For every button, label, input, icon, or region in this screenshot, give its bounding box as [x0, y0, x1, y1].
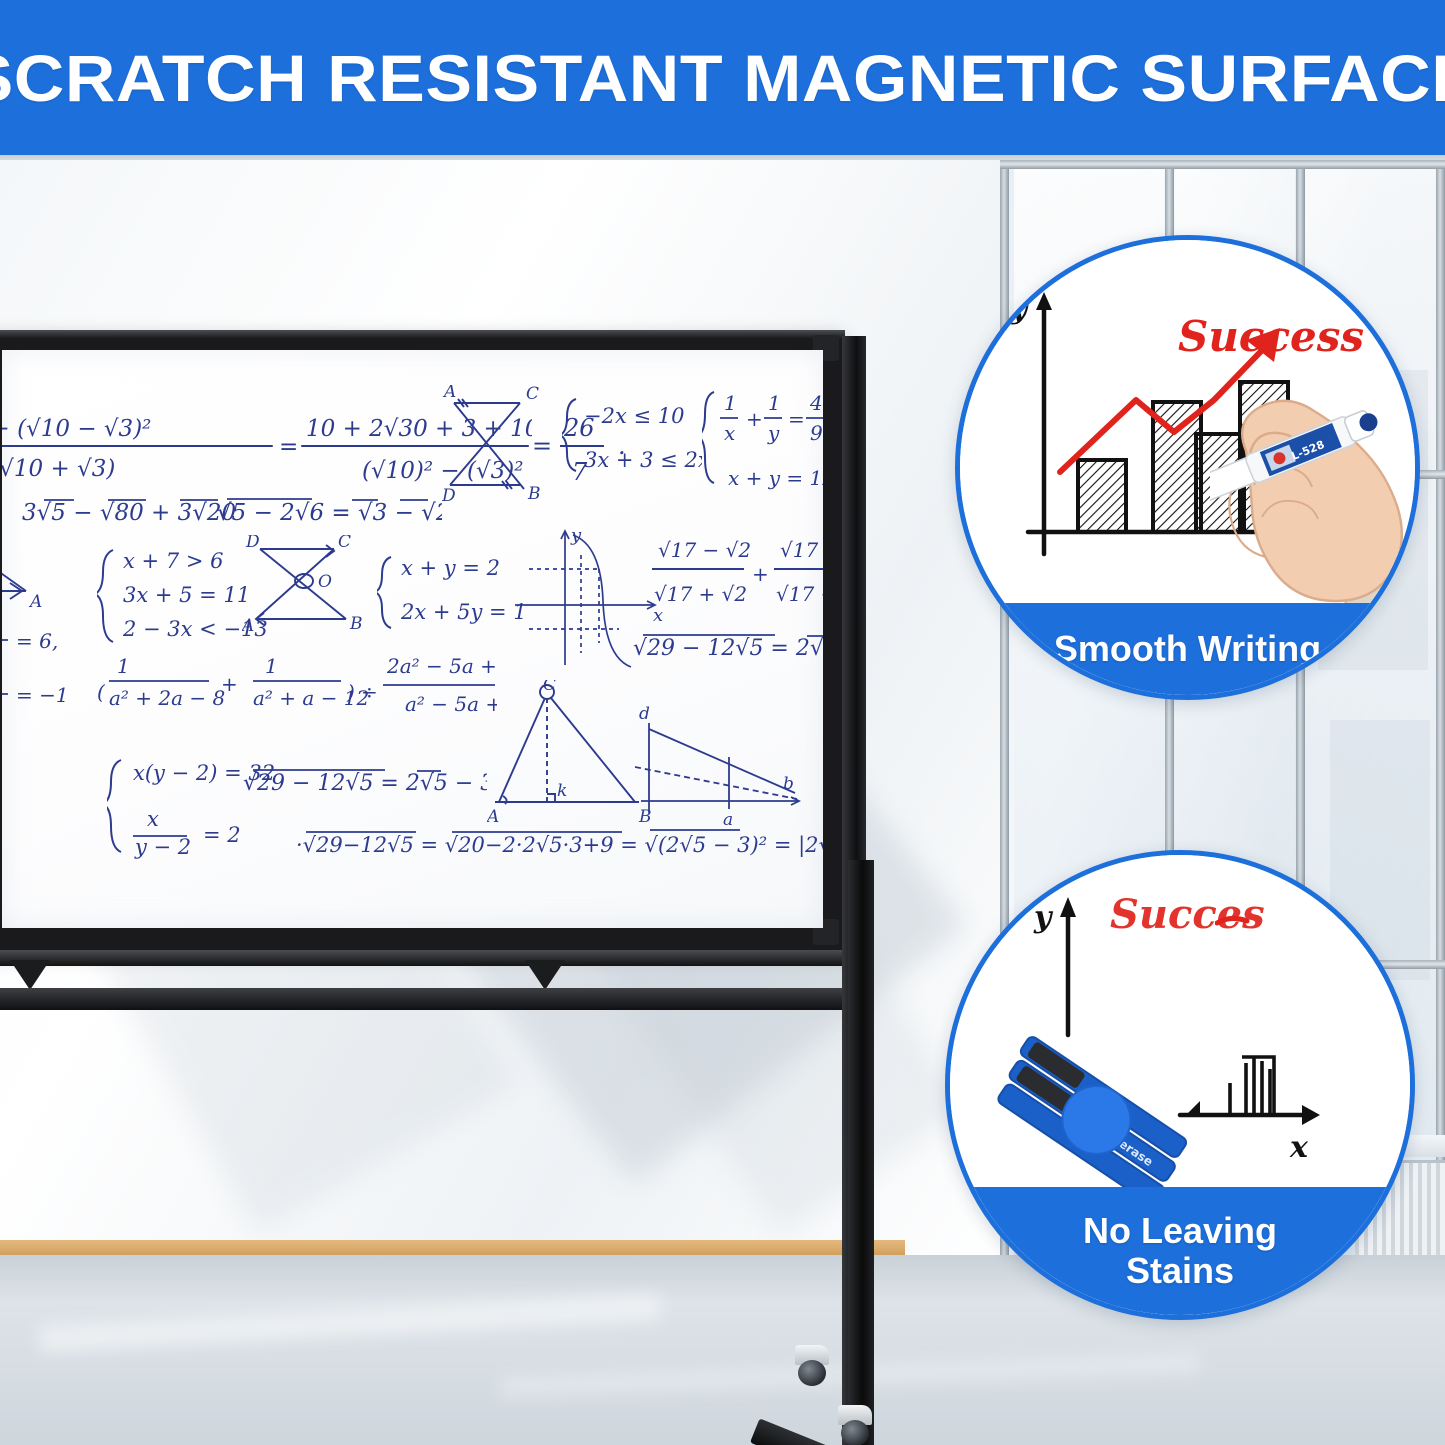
- banner-headline: SCRATCH RESISTANT MAGNETIC SURFACE: [0, 0, 1445, 155]
- chart-y-label: y: [1009, 291, 1030, 326]
- header-banner: SCRATCH RESISTANT MAGNETIC SURFACE: [0, 0, 1445, 155]
- svg-text:3x + 3 ≤ 2x + 1: 3x + 3 ≤ 2x + 1: [584, 448, 702, 472]
- svg-text:a² − 5a + 6: a² − 5a + 6: [405, 692, 497, 716]
- whiteboard[interactable]: ² + (√10 − √3)² ) (√10 + √3) = 10 + 2√30…: [0, 330, 845, 950]
- note-system-3: 4+y = 6, 8+y = −1: [2, 608, 78, 718]
- chart-x-label: x: [1289, 1130, 1309, 1165]
- svg-text:√17 − √2: √17 − √2: [658, 538, 751, 562]
- svg-text:1: 1: [724, 391, 737, 415]
- callout-2-label-line2: Stains: [1126, 1252, 1234, 1290]
- svg-text:=: =: [279, 434, 298, 460]
- note-diagram-transversal: d b a: [627, 705, 807, 830]
- svg-text:y − 2: y − 2: [134, 835, 191, 859]
- tray-bracket-left: [10, 960, 50, 990]
- svg-text:1: 1: [265, 654, 278, 678]
- y-axis-arrowhead: [1060, 897, 1076, 917]
- svg-text:x: x: [724, 421, 735, 445]
- svg-text:A: A: [442, 385, 456, 402]
- svg-text:3x + 5 = 11: 3x + 5 = 11: [123, 583, 250, 607]
- stand-post-lower: [848, 860, 874, 1445]
- svg-text:B: B: [349, 614, 363, 634]
- svg-text:) (√10 + √3): ) (√10 + √3): [2, 456, 115, 482]
- note-expression-4: ( 1a² + 2a − 8 + 1a² + a − 12 ) ÷ 2a² − …: [97, 643, 497, 738]
- office-background: ² + (√10 − √3)² ) (√10 + √3) = 10 + 2√30…: [0, 160, 1445, 1445]
- svg-text:√17 − √2: √17 − √2: [776, 582, 823, 606]
- svg-text:√29 − 12√5 = 2√5 − 3: √29 − 12√5 = 2√5 − 3: [243, 771, 487, 796]
- svg-text:B: B: [527, 484, 541, 504]
- svg-text:+: +: [221, 672, 238, 696]
- x-axis-arrowhead: [1302, 1105, 1320, 1125]
- svg-text:= 2: = 2: [203, 823, 241, 847]
- svg-text:(: (: [97, 680, 106, 704]
- callout-2-label-band: No Leaving Stains: [950, 1187, 1410, 1315]
- note-diagram-crossed-segments: AC DB: [442, 385, 552, 505]
- svg-text:=: =: [788, 407, 805, 431]
- svg-text:−2x ≤ 10: −2x ≤ 10: [584, 404, 684, 428]
- svg-text:+: +: [746, 407, 763, 431]
- caster-wheel: [798, 1360, 826, 1386]
- svg-text:= −1: = −1: [16, 683, 69, 707]
- callout-2-label-line1: No Leaving: [1083, 1212, 1277, 1250]
- svg-text:x + 7 > 6: x + 7 > 6: [123, 549, 223, 573]
- svg-text:2a² − 5a + 2ab − 5b: 2a² − 5a + 2ab − 5b: [386, 654, 497, 678]
- svg-text:y: y: [767, 421, 780, 445]
- chart-y-label: y: [1033, 900, 1054, 935]
- caster-wheel-front: [795, 1345, 829, 1385]
- note-expression-5: √29 − 12√5 = 2√5 − 3: [237, 760, 487, 808]
- svg-text:): ): [346, 680, 355, 704]
- svg-text:x + y = 12: x + y = 12: [728, 466, 823, 490]
- svg-text:√29 − 12√5 = 2√5 − 3: √29 − 12√5 = 2√5 − 3: [633, 636, 823, 661]
- eraser-with-markers: dry erase: [985, 1030, 1215, 1210]
- note-system-5: x + y = 2 2x + 5y = 1: [377, 545, 527, 635]
- svg-text:9: 9: [810, 421, 823, 445]
- svg-text:b: b: [783, 774, 794, 794]
- tray-bracket-right: [525, 960, 565, 990]
- caster-wheel: [841, 1420, 869, 1445]
- note-expression-7: ·√29−12√5 = √20−2·2√5·3+9 = √(2√5 − 3)² …: [292, 820, 823, 870]
- note-expression-6: √29 − 12√5 = 2√5 − 3: [627, 625, 823, 673]
- callout-1-label: Smooth Writing: [1054, 630, 1321, 668]
- svg-text:+: +: [752, 562, 769, 586]
- product-marketing-image: SCRATCH RESISTANT MAGNETIC SURFACE: [0, 0, 1445, 1445]
- window-transom-top: [1000, 160, 1445, 169]
- svg-text:·√29−12√5 = √20−2·2√5·3+9 = √(: ·√29−12√5 = √20−2·2√5·3+9 = √(2√5 − 3)² …: [296, 833, 823, 858]
- caster-wheel-rear: [838, 1405, 872, 1445]
- window-mullion-4: [1436, 160, 1445, 1300]
- svg-text:4: 4: [809, 391, 823, 415]
- note-expression-2: 3√5 − √80 + 3√20 √5 − 2√6 = √3 − √2: [22, 490, 442, 538]
- y-axis-arrowhead: [1036, 292, 1052, 310]
- note-system-1: −2x ≤ 10 3x + 3 ≤ 2x + 1: [562, 385, 702, 495]
- svg-text:√5 − 2√6 = √3 − √2: √5 − 2√6 = √3 − √2: [217, 500, 442, 526]
- svg-text:O: O: [318, 572, 332, 592]
- svg-text:x + y = 2: x + y = 2: [401, 556, 500, 580]
- stand-crossbar: [0, 988, 850, 1010]
- svg-text:1: 1: [117, 654, 130, 678]
- svg-text:k: k: [557, 781, 567, 801]
- svg-text:a² + 2a − 8: a² + 2a − 8: [109, 686, 225, 710]
- hand-with-marker: L-528: [1210, 345, 1420, 615]
- svg-text:1: 1: [768, 391, 781, 415]
- svg-text:D: D: [442, 486, 456, 505]
- svg-text:² + (√10 − √3)²: ² + (√10 − √3)²: [2, 416, 151, 442]
- erased-stroke-tail: [1215, 907, 1255, 937]
- note-system-2: 1x + 1y = 49 x + y = 12: [702, 380, 823, 510]
- svg-text:C: C: [526, 385, 539, 404]
- pen-tray-rail: [0, 950, 850, 966]
- svg-text:C: C: [543, 680, 556, 695]
- note-expression-3: √17 − √2 √17 + √2 + √17 + √2 √17 − √2: [652, 525, 823, 620]
- svg-text:C: C: [338, 535, 351, 552]
- svg-text:x: x: [147, 807, 159, 831]
- svg-text:√17 + √2: √17 + √2: [654, 582, 747, 606]
- callout-1-label-band: Smooth Writing: [960, 603, 1415, 695]
- svg-text:3√5 − √80 + 3√20: 3√5 − √80 + 3√20: [22, 500, 236, 526]
- whiteboard-surface[interactable]: ² + (√10 − √3)² ) (√10 + √3) = 10 + 2√30…: [2, 350, 823, 928]
- svg-text:÷: ÷: [361, 680, 378, 704]
- callout-no-leaving-stains[interactable]: y x Succes: [945, 850, 1415, 1320]
- svg-text:d: d: [639, 705, 650, 724]
- svg-text:y: y: [570, 525, 582, 546]
- svg-text:√17 + √2: √17 + √2: [780, 538, 823, 562]
- svg-text:A: A: [242, 616, 254, 636]
- svg-text:D: D: [245, 535, 260, 552]
- bar-1: [1078, 460, 1126, 532]
- callout-smooth-writing[interactable]: y x Success: [955, 235, 1420, 700]
- note-diagram-bowtie: DC AB O: [242, 535, 382, 645]
- svg-text:= 6,: = 6,: [16, 629, 58, 653]
